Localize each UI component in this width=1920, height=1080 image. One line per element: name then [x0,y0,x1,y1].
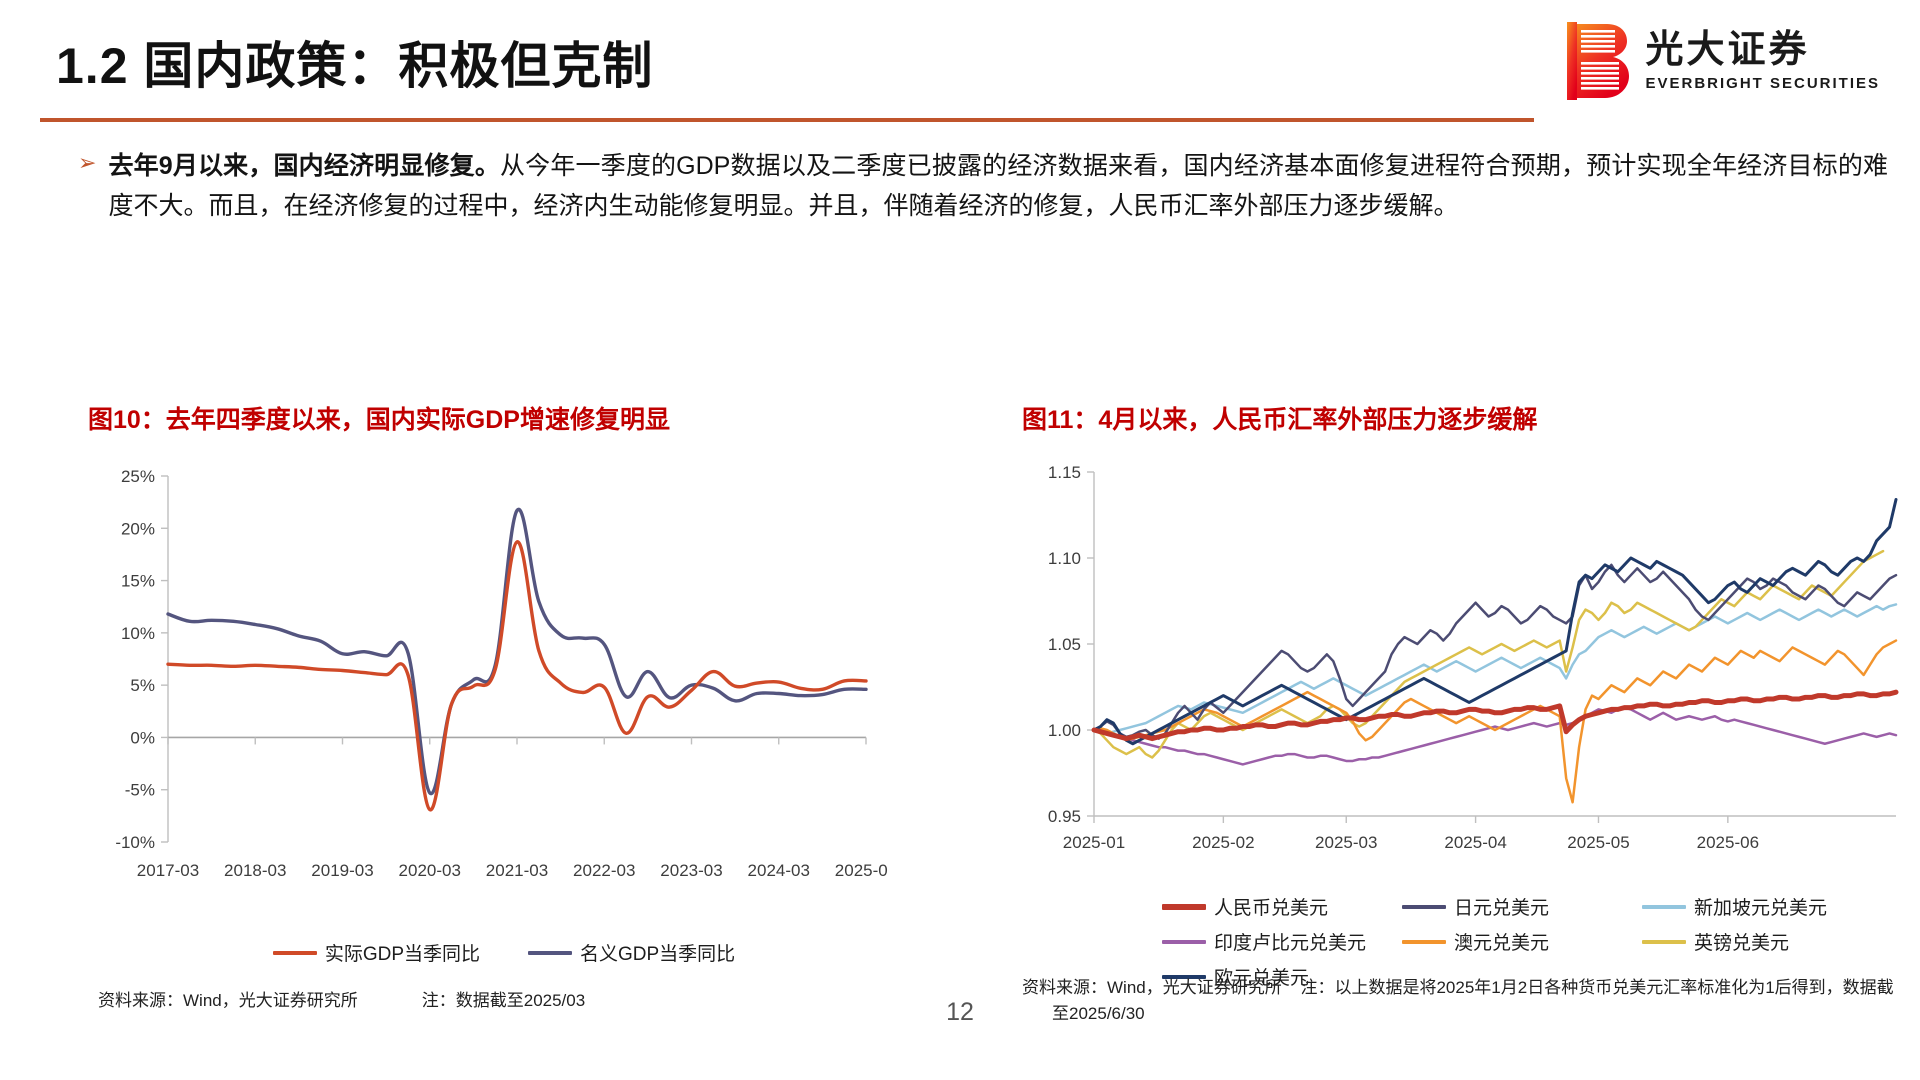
bullet-paragraph: ➢ 去年9月以来，国内经济明显修复。从今年一季度的GDP数据以及二季度已披露的经… [78,146,1888,226]
svg-text:25%: 25% [121,467,155,486]
svg-text:-10%: -10% [115,833,155,852]
legend-label: 英镑兑美元 [1694,928,1789,955]
svg-text:2024-03: 2024-03 [748,861,810,880]
svg-text:2025-02: 2025-02 [1192,833,1254,852]
legend-item[interactable]: 人民币兑美元 [1162,893,1392,920]
svg-text:10%: 10% [121,624,155,643]
svg-text:1.05: 1.05 [1048,635,1081,654]
figure-11-source-text: 资料来源：Wind，光大证券研究所 [1022,978,1282,997]
figure-11-note: 注：以上数据是将2025年1月2日各种货币兑美元汇率标准化为1后得到，数据截 [1300,978,1893,997]
legend-label: 日元兑美元 [1454,893,1549,920]
title-underline [40,118,1534,122]
svg-text:2018-03: 2018-03 [224,861,286,880]
svg-text:1.15: 1.15 [1048,463,1081,482]
svg-text:2025-03: 2025-03 [1315,833,1377,852]
legend-item[interactable]: 印度卢比元兑美元 [1162,928,1392,955]
page-number: 12 [0,998,1920,1027]
svg-text:2019-03: 2019-03 [311,861,373,880]
slide: 1.2 国内政策：积极但克制 [0,0,1920,1080]
legend-label: 澳元兑美元 [1454,928,1549,955]
legend-swatch-icon [1642,940,1686,944]
svg-text:2025-06: 2025-06 [1697,833,1759,852]
figure-11-title: 图11：4月以来，人民币汇率外部压力逐步缓解 [1022,400,1902,436]
svg-text:1.10: 1.10 [1048,549,1081,568]
logo-company-name-en: EVERBRIGHT SECURITIES [1645,76,1880,91]
legend-label: 名义GDP当季同比 [580,939,735,966]
figure-10-chart: -10%-5%0%5%10%15%20%25%2017-032018-03201… [88,458,968,933]
legend-item[interactable]: 新加坡元兑美元 [1642,893,1872,920]
bullet-arrow-icon: ➢ [78,146,96,226]
page-title: 1.2 国内政策：积极但克制 [56,26,653,98]
legend-item[interactable]: 澳元兑美元 [1402,928,1632,955]
svg-text:2022-03: 2022-03 [573,861,635,880]
bullet-lead: 去年9月以来，国内经济明显修复。 [108,152,500,180]
legend-swatch-icon [273,951,317,955]
svg-text:2017-03: 2017-03 [137,861,199,880]
svg-text:20%: 20% [121,519,155,538]
svg-text:2025-01: 2025-01 [1063,833,1125,852]
svg-text:2025-03: 2025-03 [835,861,888,880]
figure-10-legend: 实际GDP当季同比名义GDP当季同比 [88,939,968,974]
legend-swatch-icon [1162,904,1206,910]
svg-text:2021-03: 2021-03 [486,861,548,880]
legend-label: 人民币兑美元 [1214,893,1328,920]
bullet-text: 去年9月以来，国内经济明显修复。从今年一季度的GDP数据以及二季度已披露的经济数… [108,146,1888,226]
svg-text:2020-03: 2020-03 [399,861,461,880]
svg-text:2025-04: 2025-04 [1444,833,1506,852]
legend-item[interactable]: 实际GDP当季同比 [273,939,480,966]
figure-10: 图10：去年四季度以来，国内实际GDP增速修复明显 -10%-5%0%5%10%… [88,400,968,974]
legend-item[interactable]: 日元兑美元 [1402,893,1632,920]
logo-company-name-cn: 光大证券 [1645,31,1880,69]
everbright-b-mark-icon [1567,22,1629,100]
svg-text:15%: 15% [121,572,155,591]
legend-label: 新加坡元兑美元 [1694,893,1827,920]
fx-normalized-line-chart: 0.951.001.051.101.152025-012025-022025-0… [1022,458,1912,878]
legend-label: 印度卢比元兑美元 [1214,928,1366,955]
svg-text:0.95: 0.95 [1048,807,1081,826]
svg-text:5%: 5% [130,676,155,695]
legend-swatch-icon [1642,905,1686,909]
svg-text:0%: 0% [130,728,155,747]
legend-swatch-icon [528,951,572,955]
legend-item[interactable]: 名义GDP当季同比 [528,939,735,966]
svg-text:1.00: 1.00 [1048,721,1081,740]
legend-swatch-icon [1402,905,1446,909]
company-logo: 光大证券 EVERBRIGHT SECURITIES [1567,22,1880,100]
gdp-growth-line-chart: -10%-5%0%5%10%15%20%25%2017-032018-03201… [88,458,888,928]
legend-swatch-icon [1162,940,1206,944]
figure-11: 图11：4月以来，人民币汇率外部压力逐步缓解 0.951.001.051.101… [1022,400,1902,998]
figure-11-chart: 0.951.001.051.101.152025-012025-022025-0… [1022,458,1902,883]
svg-text:2023-03: 2023-03 [660,861,722,880]
figure-10-title: 图10：去年四季度以来，国内实际GDP增速修复明显 [88,400,968,436]
svg-text:2025-05: 2025-05 [1567,833,1629,852]
svg-text:-5%: -5% [125,781,155,800]
legend-label: 实际GDP当季同比 [325,939,480,966]
legend-swatch-icon [1402,940,1446,944]
legend-item[interactable]: 英镑兑美元 [1642,928,1872,955]
